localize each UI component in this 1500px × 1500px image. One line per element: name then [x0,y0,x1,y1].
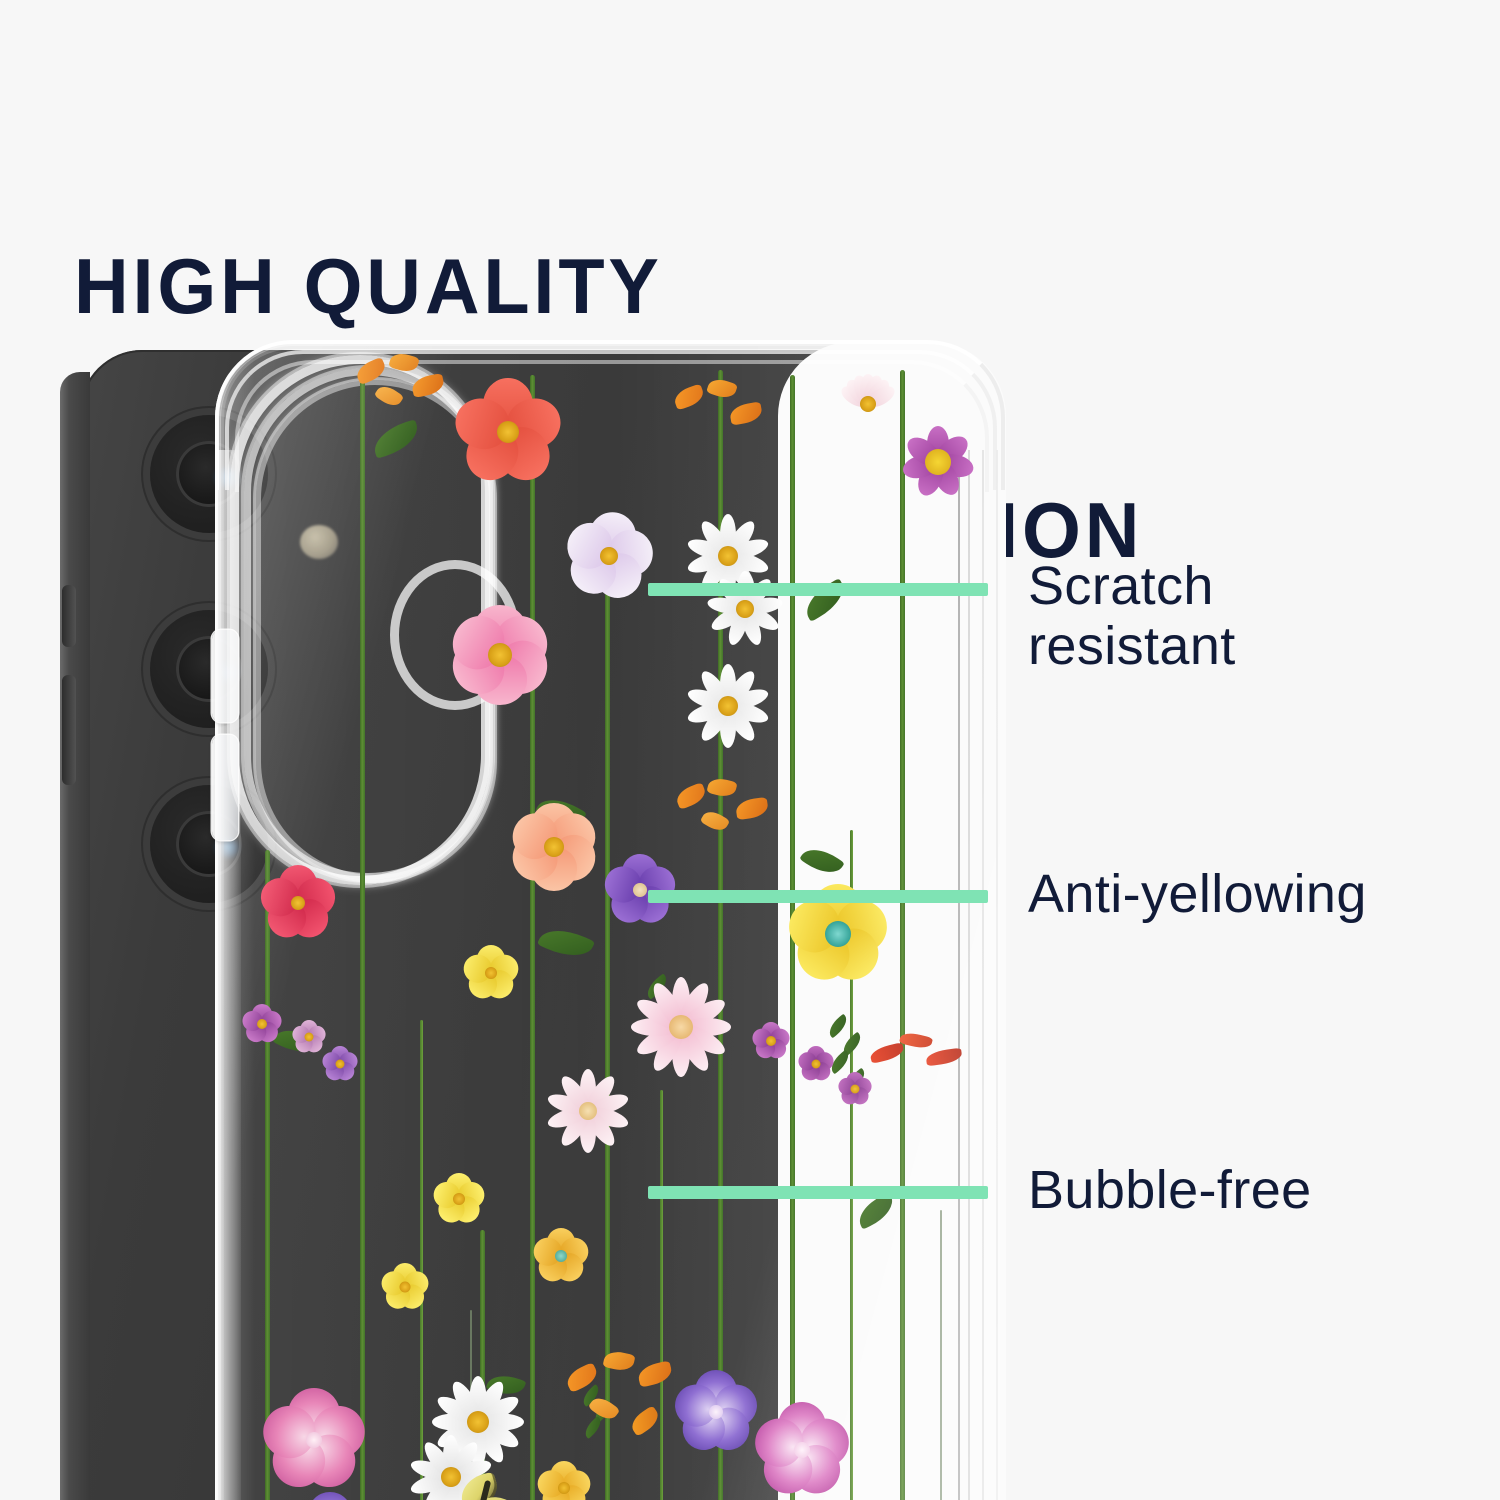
connector-line-scratch-resistant [648,583,988,596]
flower-magenta-daisy [896,420,980,504]
flower-violet-cluster [240,1002,360,1082]
feature-label-anti-yellowing: Anti-yellowing [1028,864,1367,924]
flower-white-daisy [682,660,774,752]
feature-label-scratch-resistant: Scratch resistant [1028,556,1236,677]
flower-coral-hibiscus [454,378,562,486]
flower-small-yellow [534,1458,594,1500]
flower-orange-freesia [670,378,790,448]
phone-side-edge [60,372,90,1500]
flower-crimson [255,860,341,946]
product-feature-graphic: HIGH QUALITY SILICONE CONSTRUCTION [0,0,1500,1500]
flower-orange-freesia [672,775,802,845]
flower-white-daisy [702,566,788,652]
flower-red-crocosmia [870,1030,980,1084]
flower-pink-gerbera [626,972,736,1082]
flower-purple-mallow [282,1488,378,1500]
flower-amber-buttercup [530,1225,592,1287]
flower-small-yellow [378,1260,432,1314]
flower-lilac-cosmos [560,510,658,602]
flower-pink-cosmos [440,600,560,710]
flower-stem [530,375,535,1500]
flower-peach-cosmos [504,800,604,894]
flower-magenta-mallow [748,1396,856,1500]
flower-small-yellow [460,942,522,1004]
flower-stem [360,370,365,1500]
flower-orange-freesia [350,354,470,426]
phone-volume-button [62,585,76,647]
flower-stem [900,370,905,1500]
butterfly [454,1470,530,1500]
product-image [60,330,1020,1500]
case-rail-highlight [968,450,970,1500]
case-rail-highlight [982,450,984,1500]
flower-pale-pink-daisy [542,1065,634,1157]
connector-line-bubble-free [648,1186,988,1199]
flower-small-yellow [430,1170,488,1228]
case-rail-highlight [996,450,998,1500]
flower-pink-mallow [256,1382,372,1498]
headline-line-1: HIGH QUALITY [74,246,1393,327]
case-rail-highlight [958,450,960,1500]
connector-line-anti-yellowing [648,890,988,903]
flower-stem [940,1210,942,1500]
phone-power-button [62,675,76,785]
flower-violet-cluster [750,1020,880,1100]
feature-label-bubble-free: Bubble-free [1028,1160,1312,1220]
